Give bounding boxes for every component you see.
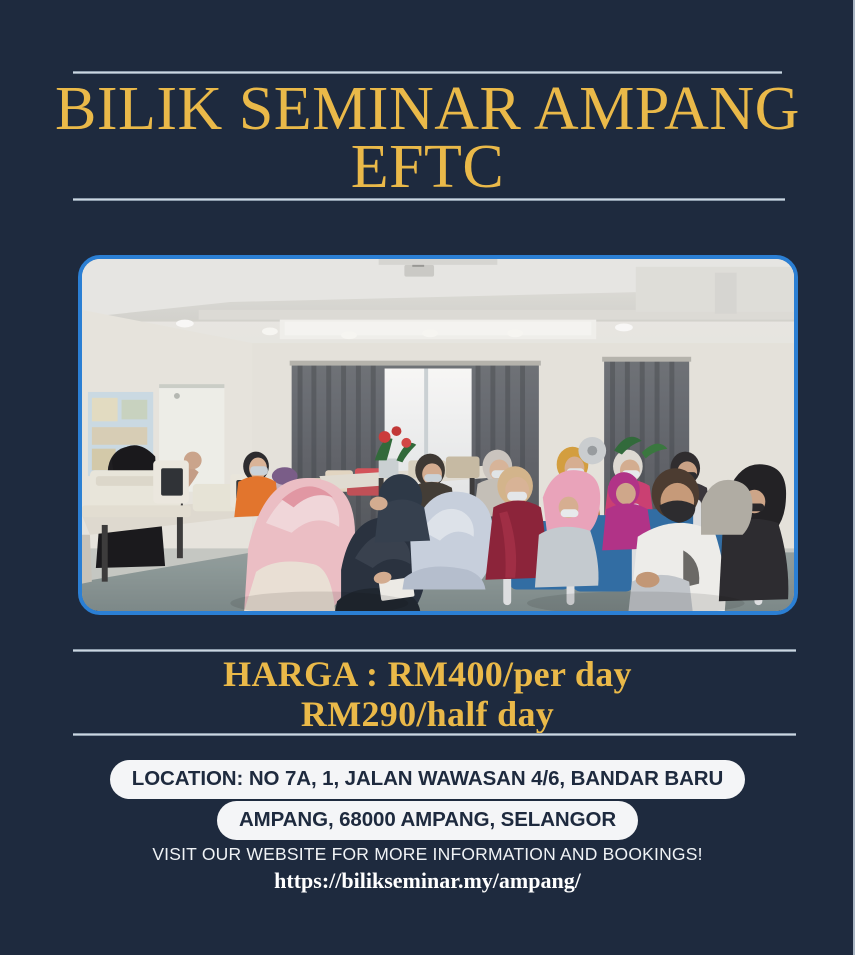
title-line-1: BILIK SEMINAR AMPANG — [0, 80, 855, 138]
website-cta-text: VISIT OUR WEBSITE FOR MORE INFORMATION A… — [0, 843, 855, 865]
location-line-2: AMPANG, 68000 AMPANG, SELANGOR — [217, 801, 638, 840]
website-url-link[interactable]: https://bilikseminar.my/ampang/ — [0, 867, 855, 895]
price-line-half-day: RM290/half day — [0, 694, 855, 734]
price-bottom-divider — [73, 733, 796, 736]
location-row-1: LOCATION: NO 7A, 1, JALAN WAWASAN 4/6, B… — [0, 760, 855, 799]
location-block: LOCATION: NO 7A, 1, JALAN WAWASAN 4/6, B… — [0, 760, 855, 840]
poster-root: BILIK SEMINAR AMPANG EFTC — [0, 0, 855, 955]
location-row-2: AMPANG, 68000 AMPANG, SELANGOR — [0, 799, 855, 840]
title-top-divider — [73, 71, 782, 74]
seminar-room-photo — [78, 255, 798, 615]
title-line-2: EFTC — [0, 138, 855, 196]
page-title: BILIK SEMINAR AMPANG EFTC — [0, 80, 855, 196]
seminar-room-illustration — [82, 259, 794, 611]
title-bottom-divider — [73, 198, 785, 201]
price-line-full-day: HARGA : RM400/per day — [0, 654, 855, 694]
price-block: HARGA : RM400/per day RM290/half day — [0, 654, 855, 734]
price-top-divider — [73, 649, 796, 652]
footer-block: VISIT OUR WEBSITE FOR MORE INFORMATION A… — [0, 843, 855, 895]
location-line-1: LOCATION: NO 7A, 1, JALAN WAWASAN 4/6, B… — [110, 760, 745, 799]
